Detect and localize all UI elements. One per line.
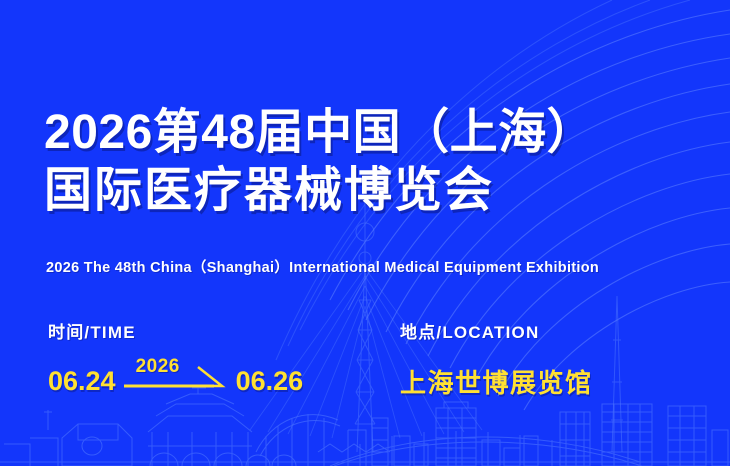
time-label: 时间/TIME <box>48 318 400 343</box>
location-info-block: 地点/LOCATION 上海世博展览馆 <box>400 318 593 400</box>
location-label: 地点/LOCATION <box>400 318 593 343</box>
event-poster: 2026第48届中国（上海） 国际医疗器械博览会 2026 The 48th C… <box>0 0 730 466</box>
subtitle-english: 2026 The 48th China（Shanghai）Internation… <box>46 256 599 277</box>
date-start: 06.24 <box>48 368 116 395</box>
time-info-block: 时间/TIME 06.24 2026 06.26 <box>48 318 400 400</box>
title-line-2: 国际医疗器械博览会 <box>44 162 595 220</box>
date-arrow-icon: 2026 <box>122 359 230 393</box>
date-range: 06.24 2026 06.26 <box>48 359 400 395</box>
page-title: 2026第48届中国（上海） 国际医疗器械博览会 <box>44 104 595 220</box>
date-end: 06.26 <box>236 368 304 395</box>
location-value: 上海世博展览馆 <box>400 363 593 400</box>
event-info-row: 时间/TIME 06.24 2026 06.26 地点/LOCATION 上海世… <box>0 318 730 400</box>
title-line-1: 2026第48届中国（上海） <box>44 104 595 162</box>
